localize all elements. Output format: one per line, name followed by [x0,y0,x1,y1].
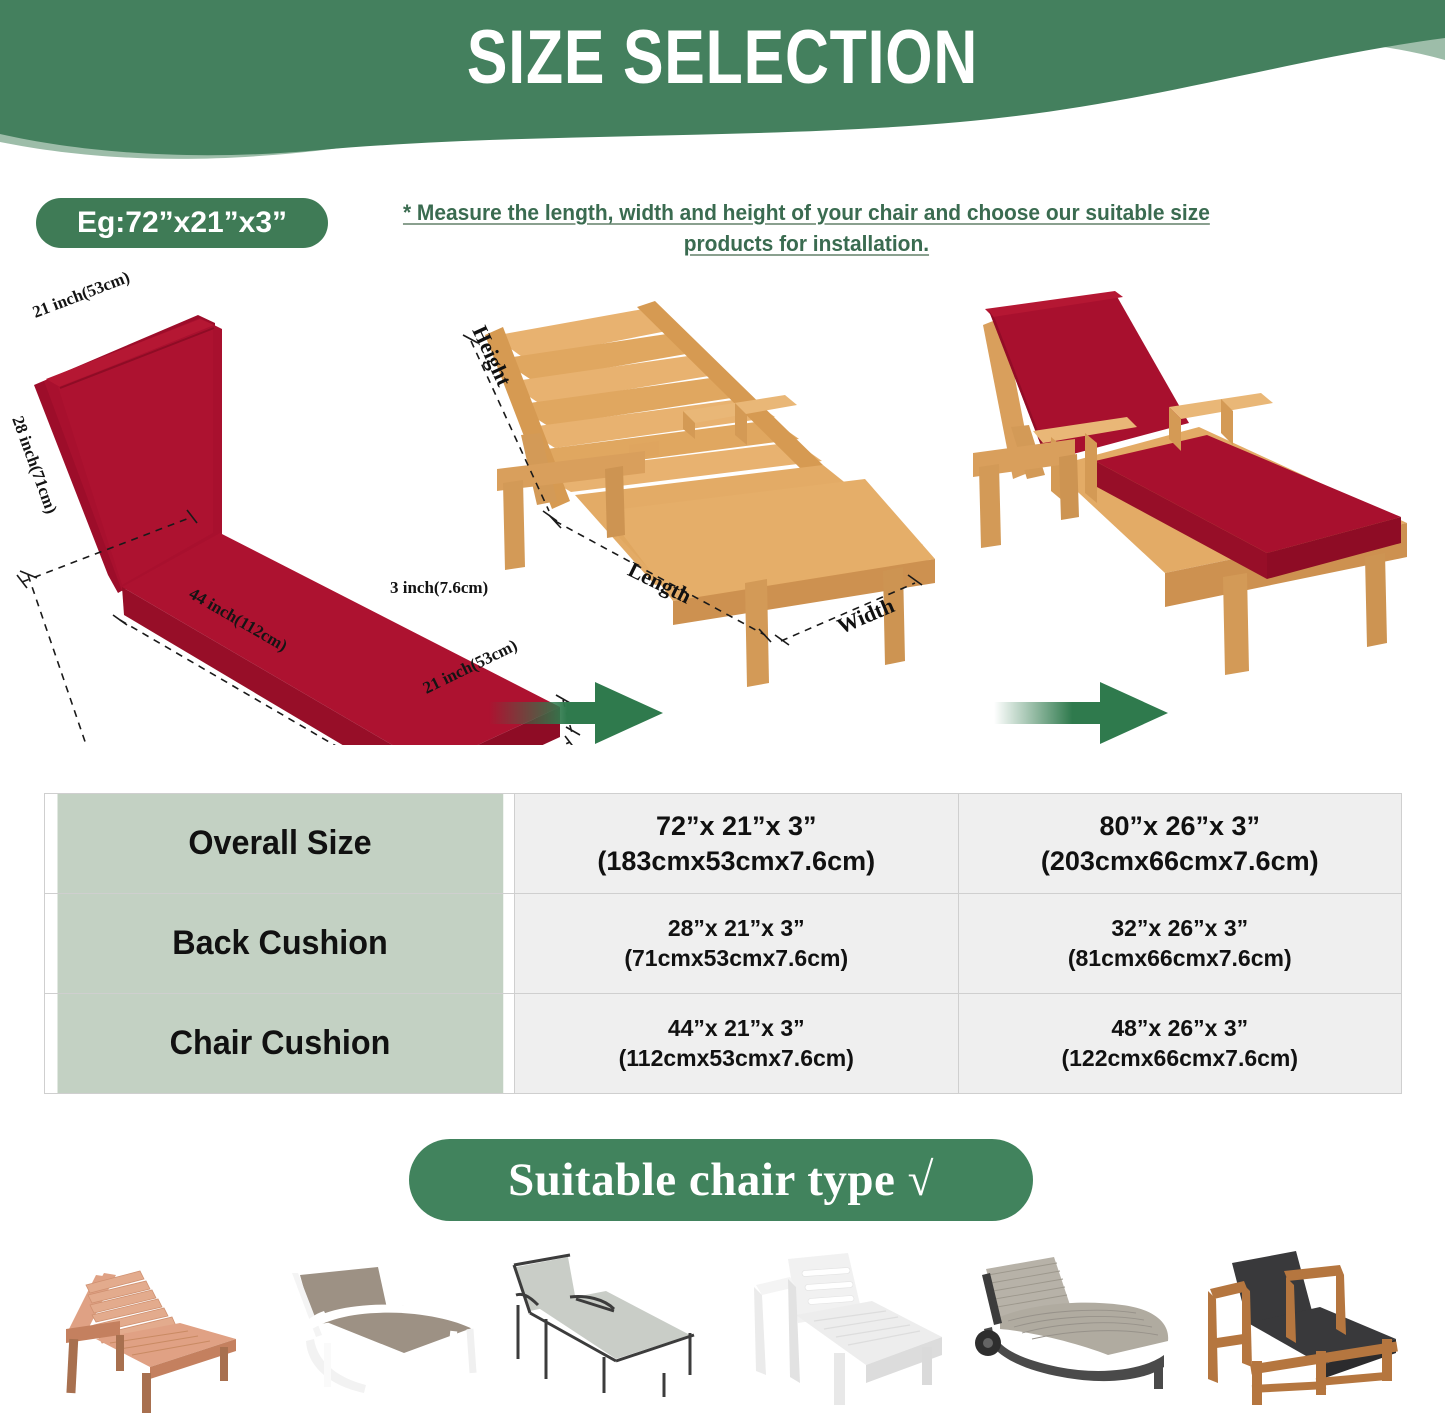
thumb-wooden-slat-chaise [30,1243,271,1414]
cushioned-leg-4 [1365,553,1387,647]
leg-front-left [503,480,525,570]
back-cushion-b-cm: (81cmx66cmx7.6cm) [963,944,1398,973]
chair-cushion-a-cm: (112cmx53cmx7.6cm) [519,1044,954,1073]
overall-size-option-b: 80”x 26”x 3” (203cmx66cmx7.6cm) [958,794,1402,894]
cushioned-leg-1 [979,464,1001,548]
chair-cushion-option-b: 48”x 26”x 3” (122cmx66cmx7.6cm) [958,994,1402,1094]
measure-instruction-note: * Measure the length, width and height o… [360,197,1253,259]
leg-rear-left [605,466,625,538]
thumb-wood-frame-black-sling-chaise [1190,1243,1431,1414]
row-label-back-cushion: Back Cushion [56,894,503,994]
overall-size-b-inches: 80”x 26”x 3” [963,809,1398,844]
leg-front-right [745,579,769,687]
chair-cushion-b-cm: (122cmx66cmx7.6cm) [963,1044,1398,1073]
row-label-overall-size: Overall Size [56,794,503,894]
cushioned-leg-3 [1223,573,1249,675]
overall-size-a-cm: (183cmx53cmx7.6cm) [519,844,954,879]
thumb-white-frame-sling-chaise [262,1243,503,1414]
chair-cushion-option-a: 44”x 21”x 3” (112cmx53cmx7.6cm) [515,994,959,1094]
back-cushion-option-a: 28”x 21”x 3” (71cmx53cmx7.6cm) [515,894,959,994]
overall-size-a-inches: 72”x 21”x 3” [519,809,954,844]
overall-size-option-a: 72”x 21”x 3” (183cmx53cmx7.6cm) [515,794,959,894]
table-row: Back Cushion 28”x 21”x 3” (71cmx53cmx7.6… [45,894,1402,994]
wooden-chaise-illustration [445,283,965,713]
thumb-white-plastic-chaise [726,1243,967,1414]
page-header: SIZE SELECTION [0,0,1445,200]
diagram-row: 21 inch(53cm) 28 inch(71cm) 44 inch(112c… [0,265,1445,775]
cushioned-leg-2 [1059,454,1079,520]
suitable-chair-type-banner: Suitable chair type √ [409,1139,1033,1221]
thumb-gray-wicker-chaise [958,1243,1199,1414]
page-title: SIZE SELECTION [145,14,1301,101]
chair-cushion-a-inches: 44”x 21”x 3” [519,1014,954,1043]
back-cushion-b-inches: 32”x 26”x 3” [963,914,1398,943]
chair-cushion-b-inches: 48”x 26”x 3” [963,1014,1398,1043]
overall-size-b-cm: (203cmx66cmx7.6cm) [963,844,1398,879]
table-row: Chair Cushion 44”x 21”x 3” (112cmx53cmx7… [45,994,1402,1094]
thumb3-seat-sling [534,1291,690,1359]
back-cushion-a-inches: 28”x 21”x 3” [519,914,954,943]
armrest-post-d [1085,433,1097,503]
size-specification-table: Overall Size 72”x 21”x 3” (183cmx53cmx7.… [44,793,1402,1094]
thumb5-wheel-hub [983,1338,993,1348]
note-line-2: products for installation. [684,231,929,256]
back-cushion-a-cm: (71cmx53cmx7.6cm) [519,944,954,973]
note-line-1: * Measure the length, width and height o… [403,200,1210,225]
wooden-chaise-with-cushion-illustration [955,275,1435,705]
thumb-dark-metal-sling-chaise [494,1243,735,1414]
row-label-chair-cushion: Chair Cushion [56,994,503,1094]
example-size-pill: Eg:72”x21”x3” [36,198,328,248]
back-cushion-option-b: 32”x 26”x 3” (81cmx66cmx7.6cm) [958,894,1402,994]
table-row: Overall Size 72”x 21”x 3” (183cmx53cmx7.… [45,794,1402,894]
suitable-chair-thumbnail-row [0,1243,1445,1414]
